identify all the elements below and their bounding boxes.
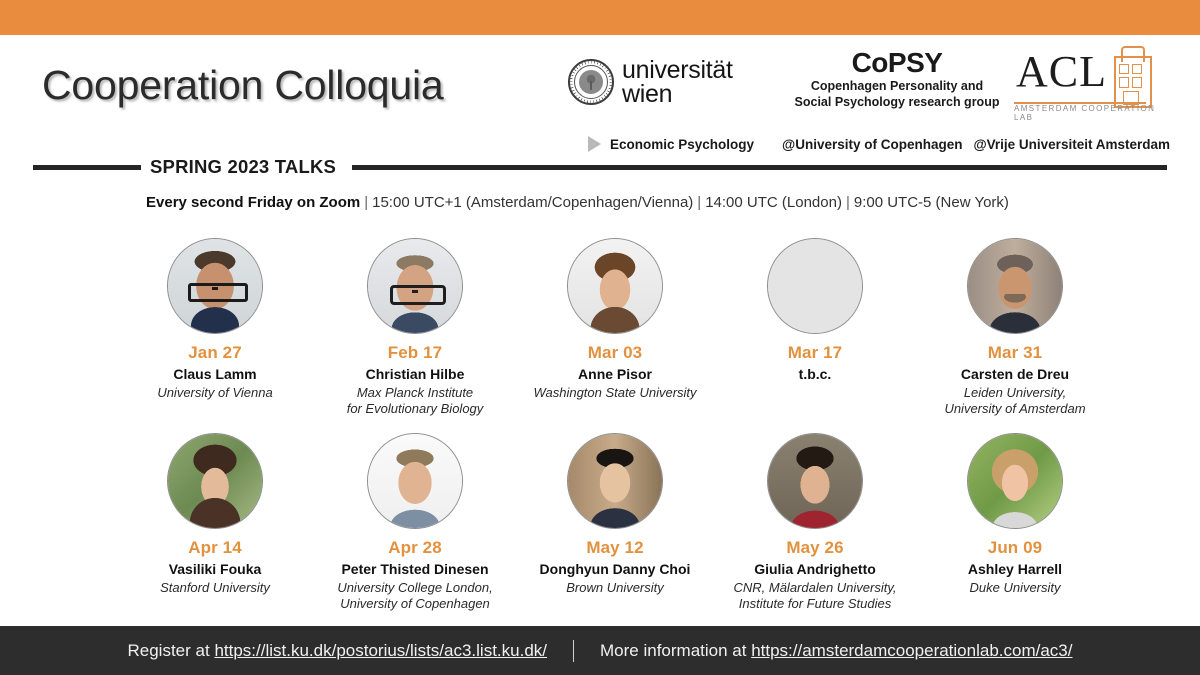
schedule-sep-1: | [360,194,372,211]
uniwien-line1: universität [622,58,733,82]
speaker-name: Giulia Andrighetto [720,561,910,578]
portrait-vasiliki-fouka [168,434,262,528]
speaker-name: Claus Lamm [120,366,310,383]
play-triangle-icon [588,136,601,152]
register-prefix: Register at [128,641,215,660]
amsterdam-cooperation-lab-logo: ACL AMSTERDAM COOPERATION LAB [1010,46,1170,120]
avatar [167,433,263,529]
avatar [167,238,263,334]
avatar [567,433,663,529]
speaker-institution: Duke University [920,580,1110,597]
copsy-acronym: CoPSY [772,48,1022,77]
copsy-logo: CoPSY Copenhagen Personality and Social … [772,48,1022,111]
portrait-ashley-harrell [968,434,1062,528]
portrait-giulia-andrighetto [768,434,862,528]
speaker-name: Ashley Harrell [920,561,1110,578]
speaker-date: Jan 27 [120,343,310,363]
info-prefix: More information at [600,641,751,660]
poster-root: Cooperation Colloquia universität wien C… [0,0,1200,675]
portrait-carsten-de-dreu [968,239,1062,333]
schedule-time-cet: 15:00 UTC+1 (Amsterdam/Copenhagen/Vienna… [372,194,693,211]
section-label: SPRING 2023 TALKS [150,156,336,178]
portrait-peter-thisted-dinesen [368,434,462,528]
speaker-name: Christian Hilbe [320,366,510,383]
avatar [967,433,1063,529]
speaker-date: Mar 17 [720,343,910,363]
speaker-institution: Brown University [520,580,710,597]
affiliation-university-of-copenhagen: @University of Copenhagen [782,137,962,152]
avatar [767,433,863,529]
register-link[interactable]: https://list.ku.dk/postorius/lists/ac3.l… [214,641,547,660]
speaker-date: Feb 17 [320,343,510,363]
schedule-sep-2: | [693,194,705,211]
copsy-subtitle-line2: Social Psychology research group [772,95,1022,111]
schedule-time-london: 14:00 UTC (London) [705,194,842,211]
speaker-date: May 12 [520,538,710,558]
speaker-row-1: Jan 27 Claus Lamm University of Vienna F… [120,238,1110,418]
speaker-name: Donghyun Danny Choi [520,561,710,578]
top-accent-band [0,0,1200,35]
speaker-card: Jan 27 Claus Lamm University of Vienna [120,238,310,418]
speaker-card: May 12 Donghyun Danny Choi Brown Univers… [520,433,710,613]
schedule-line: Every second Friday on Zoom|15:00 UTC+1 … [146,194,1009,211]
affiliation-economic-psychology: Economic Psychology [610,137,754,152]
logo-row: universität wien CoPSY Copenhagen Person… [560,44,1180,116]
acl-letters: ACL [1016,50,1107,94]
speaker-institution: Max Planck Institutefor Evolutionary Bio… [320,385,510,418]
divider-line-left [33,165,141,170]
register-segment: Register at https://list.ku.dk/postorius… [128,641,548,661]
affiliation-vrije-universiteit-amsterdam: @Vrije Universiteit Amsterdam [973,137,1170,152]
canal-house-icon [1114,46,1150,104]
speaker-card: Jun 09 Ashley Harrell Duke University [920,433,1110,613]
speaker-institution: CNR, Mälardalen University,Institute for… [720,580,910,613]
speaker-card: May 26 Giulia Andrighetto CNR, Mälardale… [720,433,910,613]
avatar-placeholder [767,238,863,334]
copsy-subtitle-line1: Copenhagen Personality and [772,79,1022,95]
schedule-sep-3: | [842,194,854,211]
speaker-row-2: Apr 14 Vasiliki Fouka Stanford Universit… [120,433,1110,613]
avatar [567,238,663,334]
speaker-date: Jun 09 [920,538,1110,558]
info-segment: More information at https://amsterdamcoo… [600,641,1072,661]
speaker-institution: University of Vienna [120,385,310,402]
speaker-card: Mar 31 Carsten de Dreu Leiden University… [920,238,1110,418]
speaker-institution: Leiden University,University of Amsterda… [920,385,1110,418]
speaker-name: Carsten de Dreu [920,366,1110,383]
speaker-card: Mar 17 t.b.c. [720,238,910,418]
avatar [367,433,463,529]
speaker-institution: Washington State University [520,385,710,402]
speaker-date: Apr 14 [120,538,310,558]
schedule-time-newyork: 9:00 UTC-5 (New York) [854,194,1009,211]
speaker-date: Apr 28 [320,538,510,558]
speaker-date: May 26 [720,538,910,558]
speaker-institution: Stanford University [120,580,310,597]
acl-caption: AMSTERDAM COOPERATION LAB [1014,104,1170,122]
more-information-link[interactable]: https://amsterdamcooperationlab.com/ac3/ [751,641,1072,660]
footer-separator [573,640,574,662]
speaker-card: Apr 14 Vasiliki Fouka Stanford Universit… [120,433,310,613]
footer-bar: Register at https://list.ku.dk/postorius… [0,626,1200,675]
university-of-vienna-logo: universität wien [568,58,733,106]
speaker-name: Peter Thisted Dinesen [320,561,510,578]
uniwien-line2: wien [622,82,733,106]
portrait-anne-pisor [568,239,662,333]
portrait-placeholder [768,239,862,333]
speaker-grid: Jan 27 Claus Lamm University of Vienna F… [120,238,1110,613]
portrait-donghyun-danny-choi [568,434,662,528]
university-of-vienna-seal-icon [568,59,614,105]
section-divider: SPRING 2023 TALKS [0,152,1200,182]
speaker-institution: University College London,University of … [320,580,510,613]
speaker-date: Mar 31 [920,343,1110,363]
avatar [967,238,1063,334]
speaker-card: Feb 17 Christian Hilbe Max Planck Instit… [320,238,510,418]
speaker-card: Mar 03 Anne Pisor Washington State Unive… [520,238,710,418]
speaker-date: Mar 03 [520,343,710,363]
speaker-card: Apr 28 Peter Thisted Dinesen University … [320,433,510,613]
divider-line-right [352,165,1167,170]
schedule-lead: Every second Friday on Zoom [146,194,360,211]
speaker-name: Vasiliki Fouka [120,561,310,578]
page-title: Cooperation Colloquia [42,62,444,109]
speaker-name: t.b.c. [720,366,910,383]
avatar [367,238,463,334]
speaker-name: Anne Pisor [520,366,710,383]
